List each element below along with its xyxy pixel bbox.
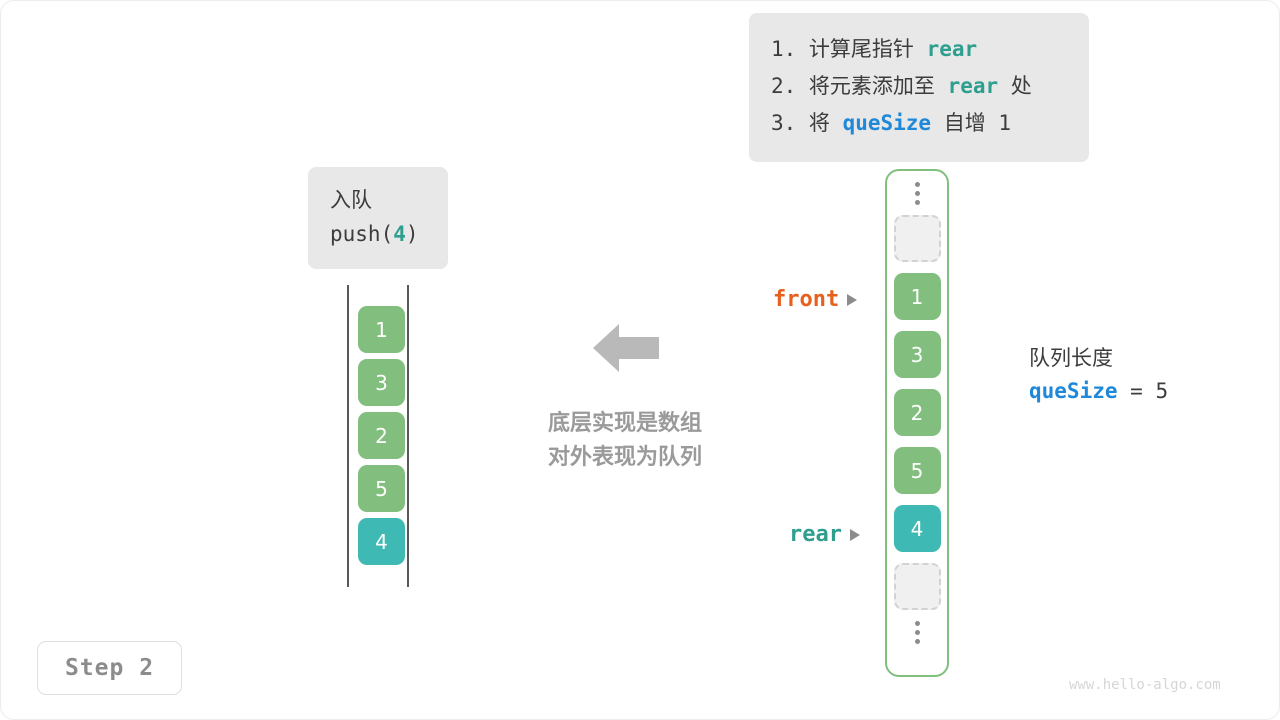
step-line-3-keyword: queSize [843,111,932,135]
step-line-2-suffix: 处 [998,74,1032,98]
step-line-3-prefix: 3. 将 [771,111,843,135]
array-cell: 4 [894,505,941,552]
underlying-array: 13254 [885,169,949,677]
queue-cell: 1 [358,306,405,353]
center-caption-line-2: 对外表现为队列 [504,441,746,475]
queue-cell: 2 [358,412,405,459]
watermark: www.hello-algo.com [1069,677,1221,693]
center-caption-line-1: 底层实现是数组 [504,407,746,441]
rear-pointer-arrow-icon [850,529,860,541]
front-pointer-arrow-icon [847,294,857,306]
queue-size-expression: queSize = 5 [1029,374,1168,408]
step-badge-label: Step 2 [65,655,154,681]
vertical-ellipsis-top-icon [915,171,920,215]
array-cell: 5 [894,447,941,494]
push-call-argument: 4 [393,222,406,246]
queue-size-annotation: 队列长度 queSize = 5 [1029,342,1168,408]
push-box-call: push(4) [330,217,448,251]
array-cell: 1 [894,273,941,320]
queue-size-variable: queSize [1029,379,1118,403]
step-line-3-suffix: 自增 1 [931,111,1011,135]
left-arrow-icon [593,319,659,381]
queue-cell: 3 [358,359,405,406]
front-pointer-label: front [773,287,857,312]
queue-size-caption: 队列长度 [1029,342,1168,374]
step-badge: Step 2 [37,641,182,695]
step-line-2: 2. 将元素添加至 rear 处 [771,68,1067,105]
array-cell: 3 [894,331,941,378]
push-box-title: 入队 [330,183,448,217]
rear-pointer-text: rear [789,522,842,547]
push-call-prefix: push( [330,222,393,246]
step-line-2-prefix: 2. 将元素添加至 [771,74,948,98]
rear-pointer-label: rear [789,522,860,547]
front-pointer-text: front [773,287,839,312]
array-cell: 2 [894,389,941,436]
queue-cell: 5 [358,465,405,512]
push-operation-box: 入队 push(4) [308,167,448,269]
diagram-canvas: 1. 计算尾指针 rear 2. 将元素添加至 rear 处 3. 将 queS… [0,0,1280,720]
logical-queue: 13254 [341,285,413,587]
queue-size-value: 5 [1155,379,1168,403]
logical-queue-cells: 13254 [358,306,405,565]
array-empty-slot [894,215,941,262]
step-line-1-prefix: 1. 计算尾指针 [771,37,927,61]
queue-rail-left [347,285,349,587]
step-line-2-keyword: rear [948,74,999,98]
queue-cell: 4 [358,518,405,565]
vertical-ellipsis-bottom-icon [915,610,920,654]
step-line-1: 1. 计算尾指针 rear [771,31,1067,68]
push-call-suffix: ) [406,222,419,246]
center-caption: 底层实现是数组 对外表现为队列 [504,407,746,475]
step-line-3: 3. 将 queSize 自增 1 [771,105,1067,142]
array-empty-slot [894,563,941,610]
array-cells: 13254 [894,215,941,610]
queue-size-equals: = [1118,379,1156,403]
queue-rail-right [407,285,409,587]
step-line-1-keyword: rear [927,37,978,61]
steps-box: 1. 计算尾指针 rear 2. 将元素添加至 rear 处 3. 将 queS… [749,13,1089,162]
